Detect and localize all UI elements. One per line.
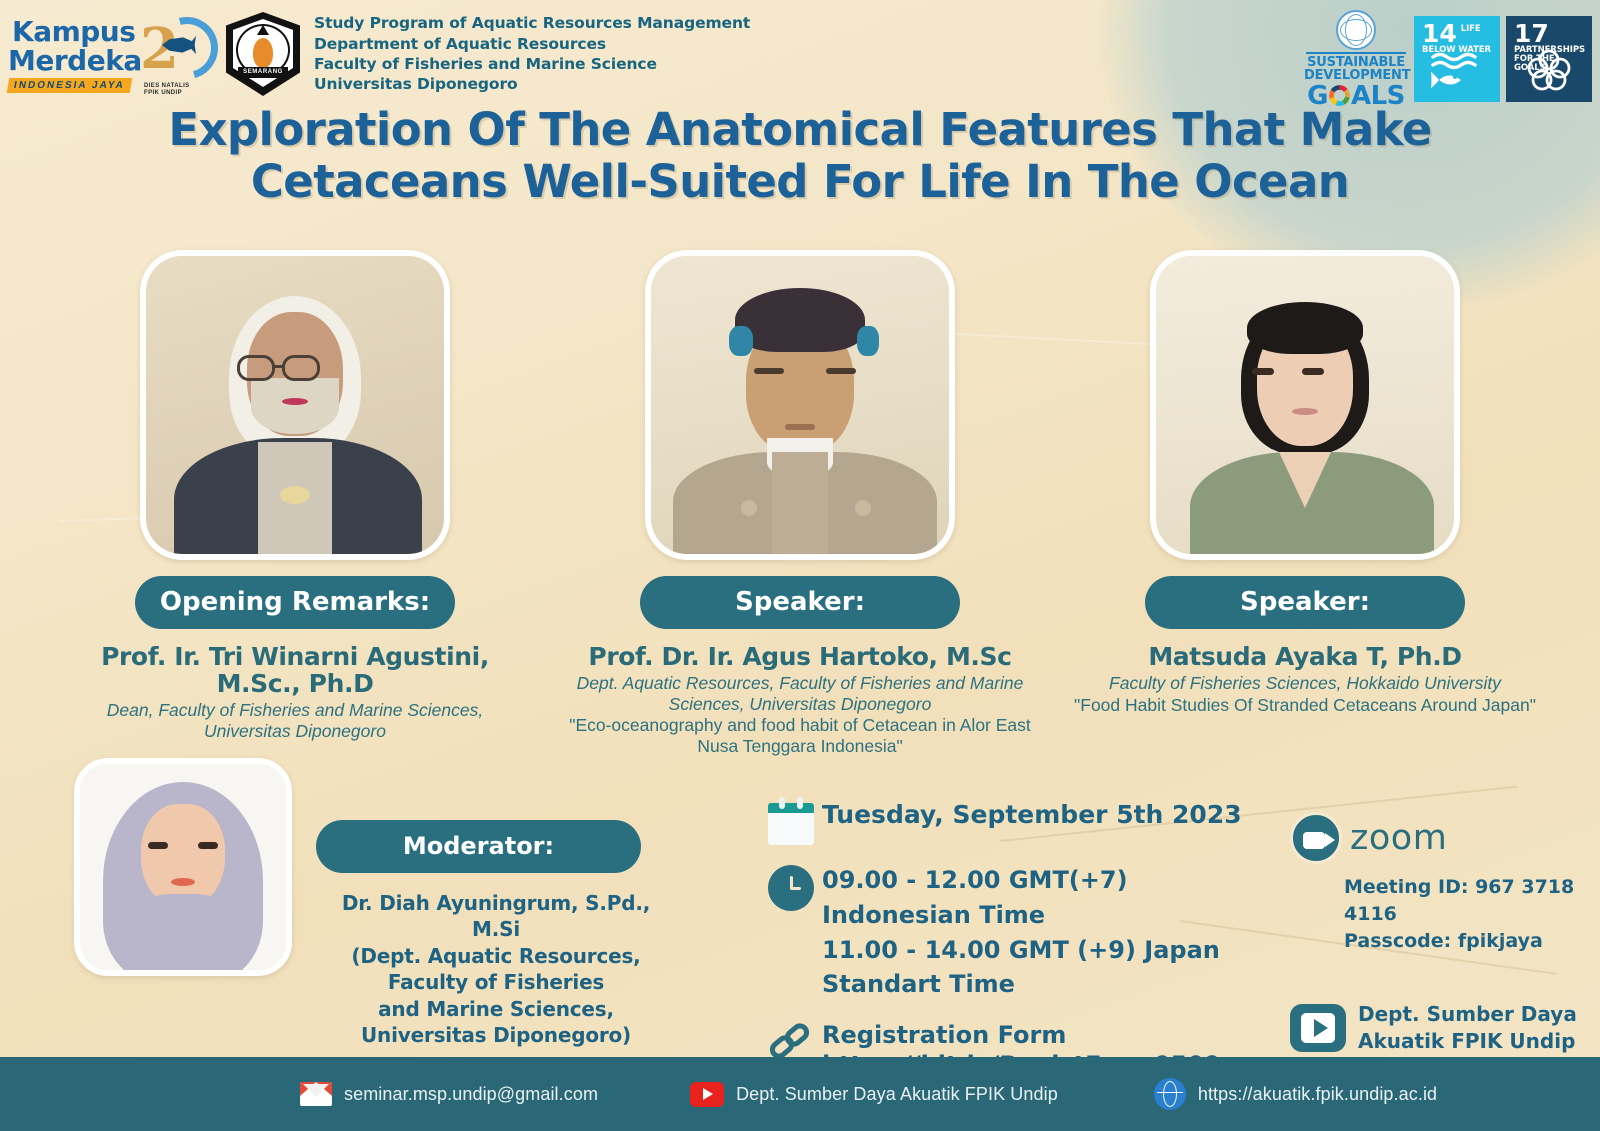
speaker-photo-1	[140, 250, 450, 560]
title-line-2: Cetaceans Well-Suited For Life In The Oc…	[80, 156, 1520, 208]
poster-footer: seminar.msp.undip@gmail.com Dept. Sumber…	[0, 1057, 1600, 1131]
speaker-1-role: Opening Remarks:	[135, 576, 455, 629]
speaker-3-role: Speaker:	[1145, 576, 1465, 629]
sustainable-development-goals-logo: SUSTAINABLE DEVELOPMENT G ALS	[1304, 10, 1408, 109]
kampus-merdeka-line2: Merdeka	[8, 47, 136, 75]
speaker-3-topic: "Food Habit Studies Of Stranded Cetacean…	[1070, 695, 1540, 716]
speaker-photo-3	[1150, 250, 1460, 560]
dies-label-line1: DIES NATALIS	[144, 83, 190, 90]
event-time: 09.00 - 12.00 GMT(+7) Indonesian Time 11…	[822, 863, 1280, 1002]
zoom-row: zoom	[1290, 812, 1590, 864]
portrait-tri-winarni-agustini	[146, 256, 444, 554]
partnership-rings-icon	[1506, 47, 1592, 96]
speaker-card-2: Speaker: Prof. Dr. Ir. Agus Hartoko, M.S…	[565, 250, 1035, 757]
speaker-2-affiliation: Dept. Aquatic Resources, Faculty of Fish…	[565, 673, 1035, 714]
speaker-1-name: Prof. Ir. Tri Winarni Agustini, M.Sc., P…	[60, 643, 530, 697]
org-line-2: Department of Aquatic Resources	[314, 34, 750, 54]
event-time-line2: 11.00 - 14.00 GMT (+9) Japan Standart Ti…	[822, 933, 1280, 1003]
footer-email-item[interactable]: seminar.msp.undip@gmail.com	[300, 1082, 598, 1106]
speaker-2-topic: "Eco-oceanography and food habit of Ceta…	[565, 715, 1035, 756]
zoom-wordmark: zoom	[1350, 821, 1447, 856]
kampus-merdeka-line1: Kampus	[12, 18, 136, 46]
moderator-affiliation-line2: and Marine Sciences, Universitas Diponeg…	[316, 996, 676, 1049]
footer-youtube: Dept. Sumber Daya Akuatik FPIK Undip	[736, 1084, 1058, 1105]
moderator-name: Dr. Diah Ayuningrum, S.Pd., M.Si	[316, 890, 676, 943]
sdg-goal-17-tile: 17 PARTNERSHIPS FOR THE GOALS	[1506, 16, 1592, 102]
dies-natalis-logo: 2 DIES NATALIS FPIK UNDIP	[138, 13, 220, 95]
footer-website-item[interactable]: https://akuatik.fpik.undip.ac.id	[1154, 1078, 1437, 1110]
kampus-merdeka-ribbon: INDONESIA JAYA	[7, 78, 132, 93]
portrait-agus-hartoko	[651, 256, 949, 554]
footer-email: seminar.msp.undip@gmail.com	[344, 1084, 598, 1105]
moderator-role: Moderator:	[316, 820, 641, 873]
speaker-2-name: Prof. Dr. Ir. Agus Hartoko, M.Sc	[565, 643, 1035, 670]
calendar-icon	[768, 797, 814, 845]
dies-natalis-label: DIES NATALIS FPIK UNDIP	[144, 83, 190, 97]
seal-star-icon	[257, 25, 269, 35]
footer-website: https://akuatik.fpik.undip.ac.id	[1198, 1084, 1437, 1105]
fish-waves-icon	[1414, 51, 1500, 96]
speaker-3-affiliation: Faculty of Fisheries Sciences, Hokkaido …	[1070, 673, 1540, 694]
poster-title: Exploration Of The Anatomical Features T…	[0, 104, 1600, 208]
org-line-4: Universitas Diponegoro	[314, 74, 750, 94]
youtube-icon	[690, 1082, 724, 1107]
moderator-block: Moderator: Dr. Diah Ayuningrum, S.Pd., M…	[74, 758, 676, 1048]
event-date-row: Tuesday, September 5th 2023	[760, 795, 1280, 845]
sdg-goal-14-tile: 14 LIFE BELOW WATER	[1414, 16, 1500, 102]
footer-youtube-item[interactable]: Dept. Sumber Daya Akuatik FPIK Undip	[690, 1082, 1058, 1107]
event-details: Tuesday, September 5th 2023 09.00 - 12.0…	[760, 795, 1280, 1099]
title-line-1: Exploration Of The Anatomical Features T…	[80, 104, 1520, 156]
zoom-credentials: Meeting ID: 967 3718 4116 Passcode: fpik…	[1344, 874, 1590, 955]
sdg-divider	[1306, 52, 1406, 54]
dies-label-line2: FPIK UNDIP	[144, 90, 190, 97]
clock-icon	[768, 865, 814, 911]
speaker-3-name: Matsuda Ayaka T, Ph.D	[1070, 643, 1540, 670]
portrait-diah-ayuningrum	[80, 764, 286, 970]
org-line-1: Study Program of Aquatic Resources Manag…	[314, 13, 750, 33]
organization-block: Study Program of Aquatic Resources Manag…	[314, 13, 750, 95]
gmail-icon	[300, 1082, 332, 1106]
kampus-merdeka-logo: Kampus Merdeka INDONESIA JAYA	[8, 18, 136, 90]
zoom-camera-icon	[1290, 812, 1342, 864]
un-emblem-icon	[1336, 10, 1376, 50]
youtube-channel-name: Dept. Sumber Daya Akuatik FPIK Undip	[1358, 1001, 1577, 1055]
seal-flame-icon	[253, 38, 273, 68]
youtube-icon	[1290, 1004, 1346, 1052]
speaker-photo-2	[645, 250, 955, 560]
portrait-matsuda-ayaka	[1156, 256, 1454, 554]
event-time-row: 09.00 - 12.00 GMT(+7) Indonesian Time 11…	[760, 863, 1280, 1002]
globe-icon	[1154, 1078, 1186, 1110]
youtube-channel-row[interactable]: Dept. Sumber Daya Akuatik FPIK Undip	[1290, 1001, 1590, 1055]
undip-seal-logo: SEMARANG	[226, 12, 300, 96]
seal-bottom-text: SEMARANG	[238, 67, 288, 78]
zoom-meeting-id: Meeting ID: 967 3718 4116	[1344, 874, 1590, 928]
sdg-line1: SUSTAINABLE	[1304, 56, 1408, 69]
speaker-1-affiliation: Dean, Faculty of Fisheries and Marine Sc…	[60, 700, 530, 741]
moderator-photo	[74, 758, 292, 976]
moderator-text: Moderator: Dr. Diah Ayuningrum, S.Pd., M…	[316, 758, 676, 1048]
zoom-passcode: Passcode: fpikjaya	[1344, 928, 1590, 955]
speakers-row: Opening Remarks: Prof. Ir. Tri Winarni A…	[0, 250, 1600, 757]
event-time-line1: 09.00 - 12.00 GMT(+7) Indonesian Time	[822, 863, 1280, 933]
youtube-line1: Dept. Sumber Daya	[1358, 1001, 1577, 1028]
platform-panel: zoom Meeting ID: 967 3718 4116 Passcode:…	[1290, 812, 1590, 1055]
event-date: Tuesday, September 5th 2023	[822, 795, 1242, 829]
speaker-card-3: Speaker: Matsuda Ayaka T, Ph.D Faculty o…	[1070, 250, 1540, 757]
speaker-card-1: Opening Remarks: Prof. Ir. Tri Winarni A…	[60, 250, 530, 757]
speaker-2-role: Speaker:	[640, 576, 960, 629]
poster-canvas: Kampus Merdeka INDONESIA JAYA 2 DIES NAT…	[0, 0, 1600, 1131]
sdg-17-number: 17	[1514, 23, 1549, 46]
moderator-affiliation-line1: (Dept. Aquatic Resources, Faculty of Fis…	[316, 943, 676, 996]
sdg-logo-cluster: SUSTAINABLE DEVELOPMENT G ALS 14 LIFE BE…	[1304, 10, 1592, 109]
sdg-14-number: 14	[1422, 23, 1457, 46]
youtube-line2: Akuatik FPIK Undip	[1358, 1028, 1577, 1055]
org-line-3: Faculty of Fisheries and Marine Science	[314, 54, 750, 74]
registration-title: Registration Form	[822, 1020, 1221, 1050]
